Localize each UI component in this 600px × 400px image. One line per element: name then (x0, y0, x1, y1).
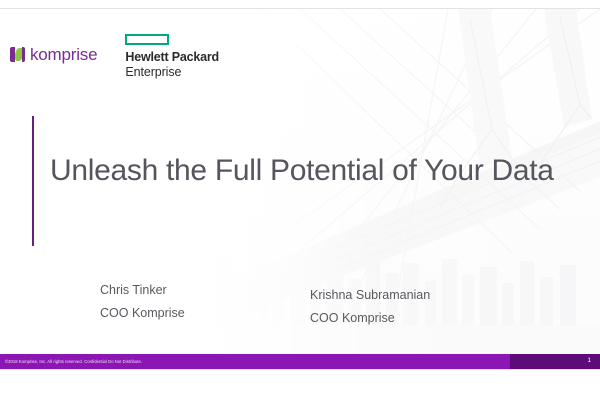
slide-page-number: 1 (587, 357, 591, 364)
presentation-slide: komprise Hewlett Packard Enterprise Unle… (0, 8, 600, 370)
presenter-role: COO Komprise (310, 307, 430, 330)
presenter-name: Krishna Subramanian (310, 284, 430, 307)
presenter-role: COO Komprise (100, 302, 185, 325)
komprise-wordmark: komprise (30, 46, 97, 63)
hpe-logo: Hewlett Packard Enterprise (125, 34, 219, 79)
page-title: Unleash the Full Potential of Your Data (50, 154, 570, 187)
footer-copyright: ©2018 Komprise, Inc. All rights reserved… (5, 359, 142, 364)
title-accent-rule (32, 116, 34, 246)
presenter-item: Chris Tinker COO Komprise (100, 279, 185, 325)
slide-frame: komprise Hewlett Packard Enterprise Unle… (0, 0, 600, 400)
hpe-logo-line2: Enterprise (125, 65, 219, 79)
hpe-rectangle-mark-icon (125, 34, 169, 45)
slide-footer: ©2018 Komprise, Inc. All rights reserved… (0, 354, 600, 369)
hpe-logo-line1: Hewlett Packard (125, 51, 219, 65)
presenter-name: Chris Tinker (100, 279, 185, 302)
logo-row: komprise Hewlett Packard Enterprise (10, 34, 219, 79)
komprise-leaf-mark-icon (10, 47, 25, 62)
komprise-logo: komprise (10, 46, 97, 63)
presenter-item: Krishna Subramanian COO Komprise (310, 284, 430, 330)
